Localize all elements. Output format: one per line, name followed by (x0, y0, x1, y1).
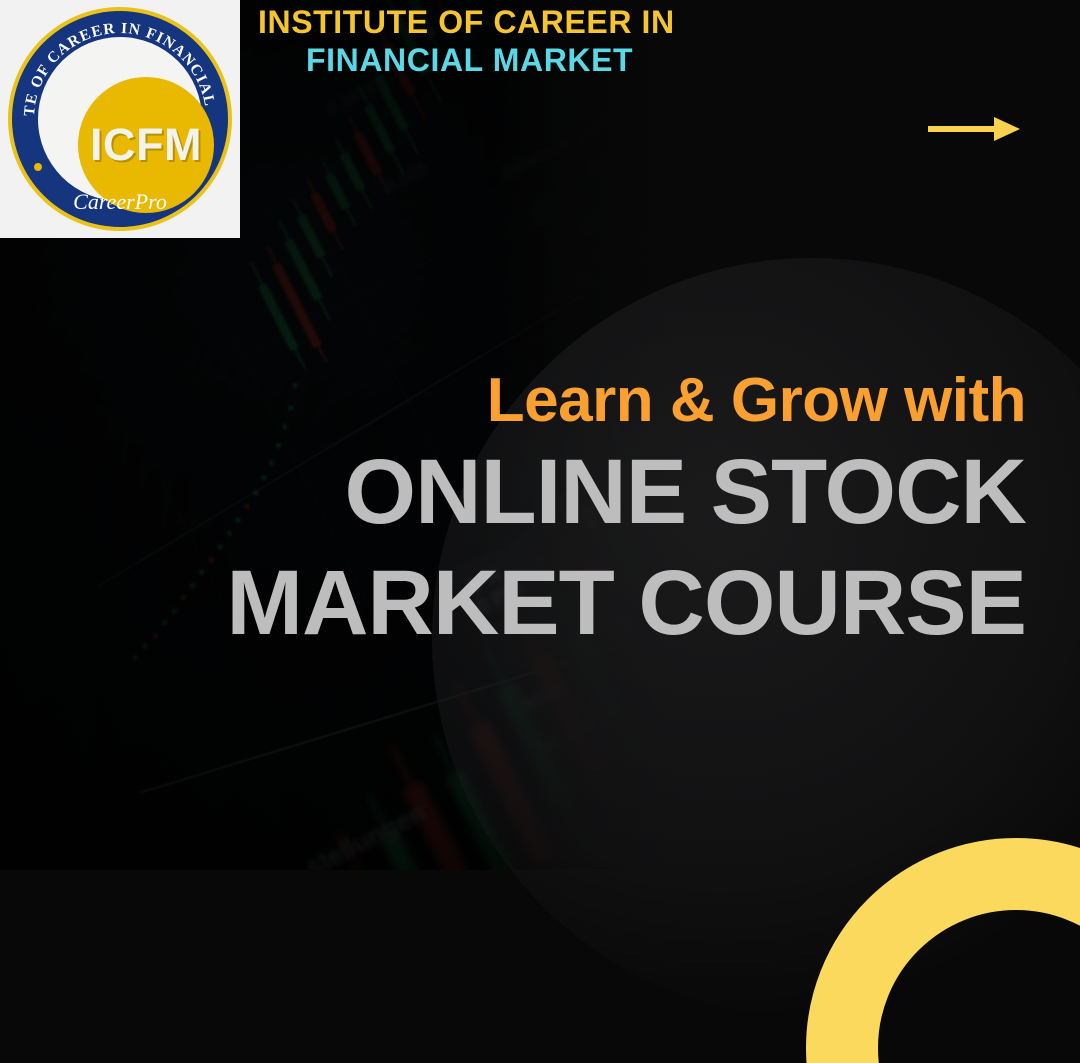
logo-acronym: ICFM (90, 119, 202, 171)
logo-container: INSTITUTE OF CAREER IN FINANCIAL MARKET … (0, 0, 240, 238)
headline-kicker: Learn & Grow with (0, 368, 1026, 433)
headline-title-line-2: MARKET COURSE (0, 552, 1026, 655)
logo-inner-ring: ICFM (38, 37, 202, 201)
header-line-2: FINANCIAL MARKET (258, 42, 1018, 80)
decorative-ring (806, 838, 1080, 1063)
seal-dot-left (34, 163, 42, 171)
logo-seal: INSTITUTE OF CAREER IN FINANCIAL MARKET … (12, 11, 228, 227)
headline-title-line-1: ONLINE STOCK (0, 441, 1026, 544)
arrow-right-icon[interactable] (928, 115, 1022, 143)
header-title-block: INSTITUTE OF CAREER IN FINANCIAL MARKET (258, 4, 1018, 80)
logo-tagline: CareerPro (12, 189, 228, 215)
headline-block: Learn & Grow with ONLINE STOCK MARKET CO… (0, 368, 1026, 655)
poster-canvas: 0 % 0 Pkt. 37.79 37.794,0 Forum 1 Feb. 1… (0, 0, 1080, 1063)
header-line-1: INSTITUTE OF CAREER IN (258, 4, 1018, 42)
